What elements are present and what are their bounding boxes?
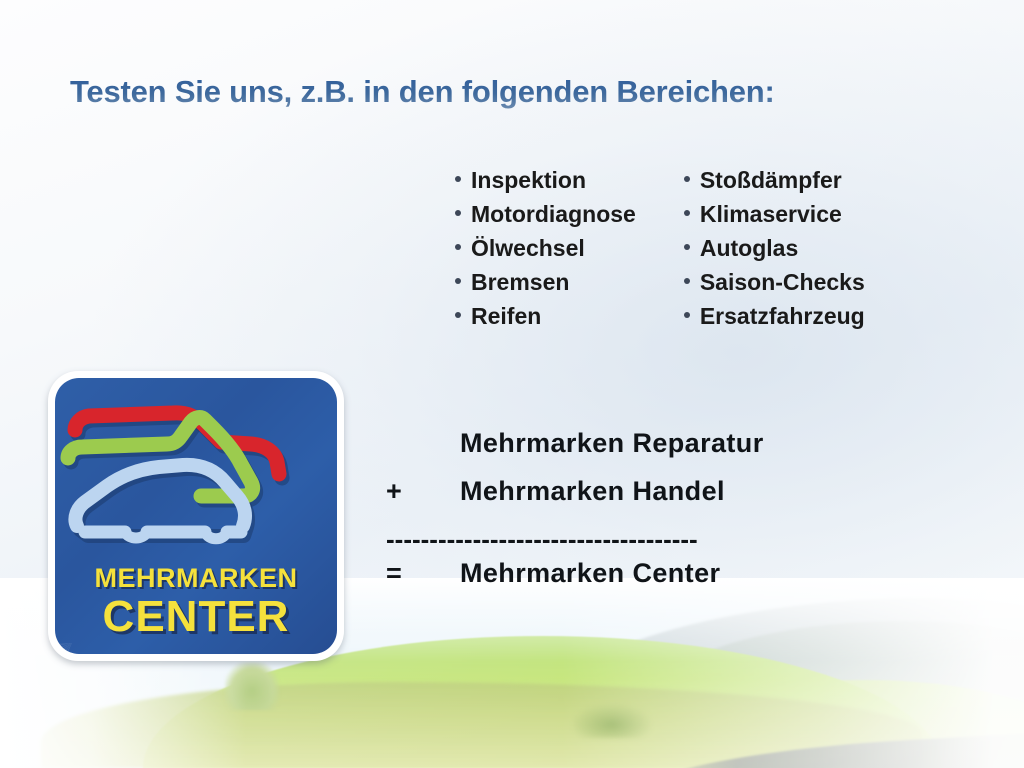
equation-row-result: = Mehrmarken Center — [386, 558, 906, 606]
list-item-label: Saison-Checks — [700, 265, 865, 299]
landscape-bush-secondary — [573, 704, 651, 738]
list-item: Ersatzfahrzeug — [684, 299, 865, 333]
list-item: Reifen — [455, 299, 636, 333]
list-item: Inspektion — [455, 163, 636, 197]
list-item-label: Autoglas — [700, 231, 798, 265]
bullet-dot-icon — [455, 210, 461, 216]
landscape-mid-mountain — [645, 621, 1024, 713]
list-item-label: Stoßdämpfer — [700, 163, 842, 197]
list-item: Bremsen — [455, 265, 636, 299]
list-item-label: Inspektion — [471, 163, 586, 197]
equation-operator-equals: = — [386, 558, 460, 589]
list-item-label: Reifen — [471, 299, 541, 333]
landscape-secondary-hill — [573, 680, 1024, 768]
equation-row-reparatur: Mehrmarken Reparatur — [386, 428, 906, 476]
equation-result-label: Mehrmarken Center — [460, 558, 720, 589]
bullet-dot-icon — [684, 210, 690, 216]
bullet-dot-icon — [455, 278, 461, 284]
equation-term-label: Mehrmarken Reparatur — [460, 428, 764, 459]
list-item: Klimaservice — [684, 197, 865, 231]
list-item-label: Ersatzfahrzeug — [700, 299, 865, 333]
logo-car-wheel-front — [125, 532, 147, 538]
bullet-dot-icon — [455, 176, 461, 182]
services-list: Inspektion Motordiagnose Ölwechsel Brems… — [455, 163, 865, 333]
logo-line-center: CENTER — [55, 594, 337, 640]
list-item-label: Klimaservice — [700, 197, 842, 231]
list-item: Saison-Checks — [684, 265, 865, 299]
list-item-label: Motordiagnose — [471, 197, 636, 231]
equation-row-handel: + Mehrmarken Handel — [386, 476, 906, 524]
landscape-road — [634, 730, 1024, 768]
bullet-dot-icon — [684, 244, 690, 250]
equation-term-label: Mehrmarken Handel — [460, 476, 725, 507]
bullet-dot-icon — [455, 244, 461, 250]
list-item: Autoglas — [684, 231, 865, 265]
landscape-bush — [225, 662, 279, 710]
list-item: Ölwechsel — [455, 231, 636, 265]
list-item-label: Ölwechsel — [471, 231, 585, 265]
services-column-left: Inspektion Motordiagnose Ölwechsel Brems… — [455, 163, 636, 333]
services-column-right: Stoßdämpfer Klimaservice Autoglas Saison… — [684, 163, 865, 333]
equation-divider: ------------------------------------ — [386, 524, 906, 558]
equation-operator-plus: + — [386, 476, 460, 507]
mehrmarken-center-logo: MEHRMARKEN CENTER — [48, 371, 344, 661]
landscape-field — [41, 682, 922, 768]
list-item: Stoßdämpfer — [684, 163, 865, 197]
bullet-dot-icon — [455, 312, 461, 318]
logo-car-silhouettes-icon — [55, 386, 337, 566]
logo-wordmark: MEHRMARKEN CENTER — [55, 563, 337, 640]
landscape-far-mountain — [531, 589, 1024, 731]
logo-inner-panel: MEHRMARKEN CENTER — [55, 378, 337, 654]
bullet-dot-icon — [684, 176, 690, 182]
slide-canvas: Testen Sie uns, z.B. in den folgenden Be… — [0, 0, 1024, 768]
bullet-dot-icon — [684, 312, 690, 318]
logo-line-mehrmarken: MEHRMARKEN — [55, 563, 337, 594]
list-item-label: Bremsen — [471, 265, 569, 299]
bullet-dot-icon — [684, 278, 690, 284]
page-title: Testen Sie uns, z.B. in den folgenden Be… — [70, 74, 775, 110]
list-item: Motordiagnose — [455, 197, 636, 231]
equation-block: Mehrmarken Reparatur + Mehrmarken Handel… — [386, 428, 906, 606]
